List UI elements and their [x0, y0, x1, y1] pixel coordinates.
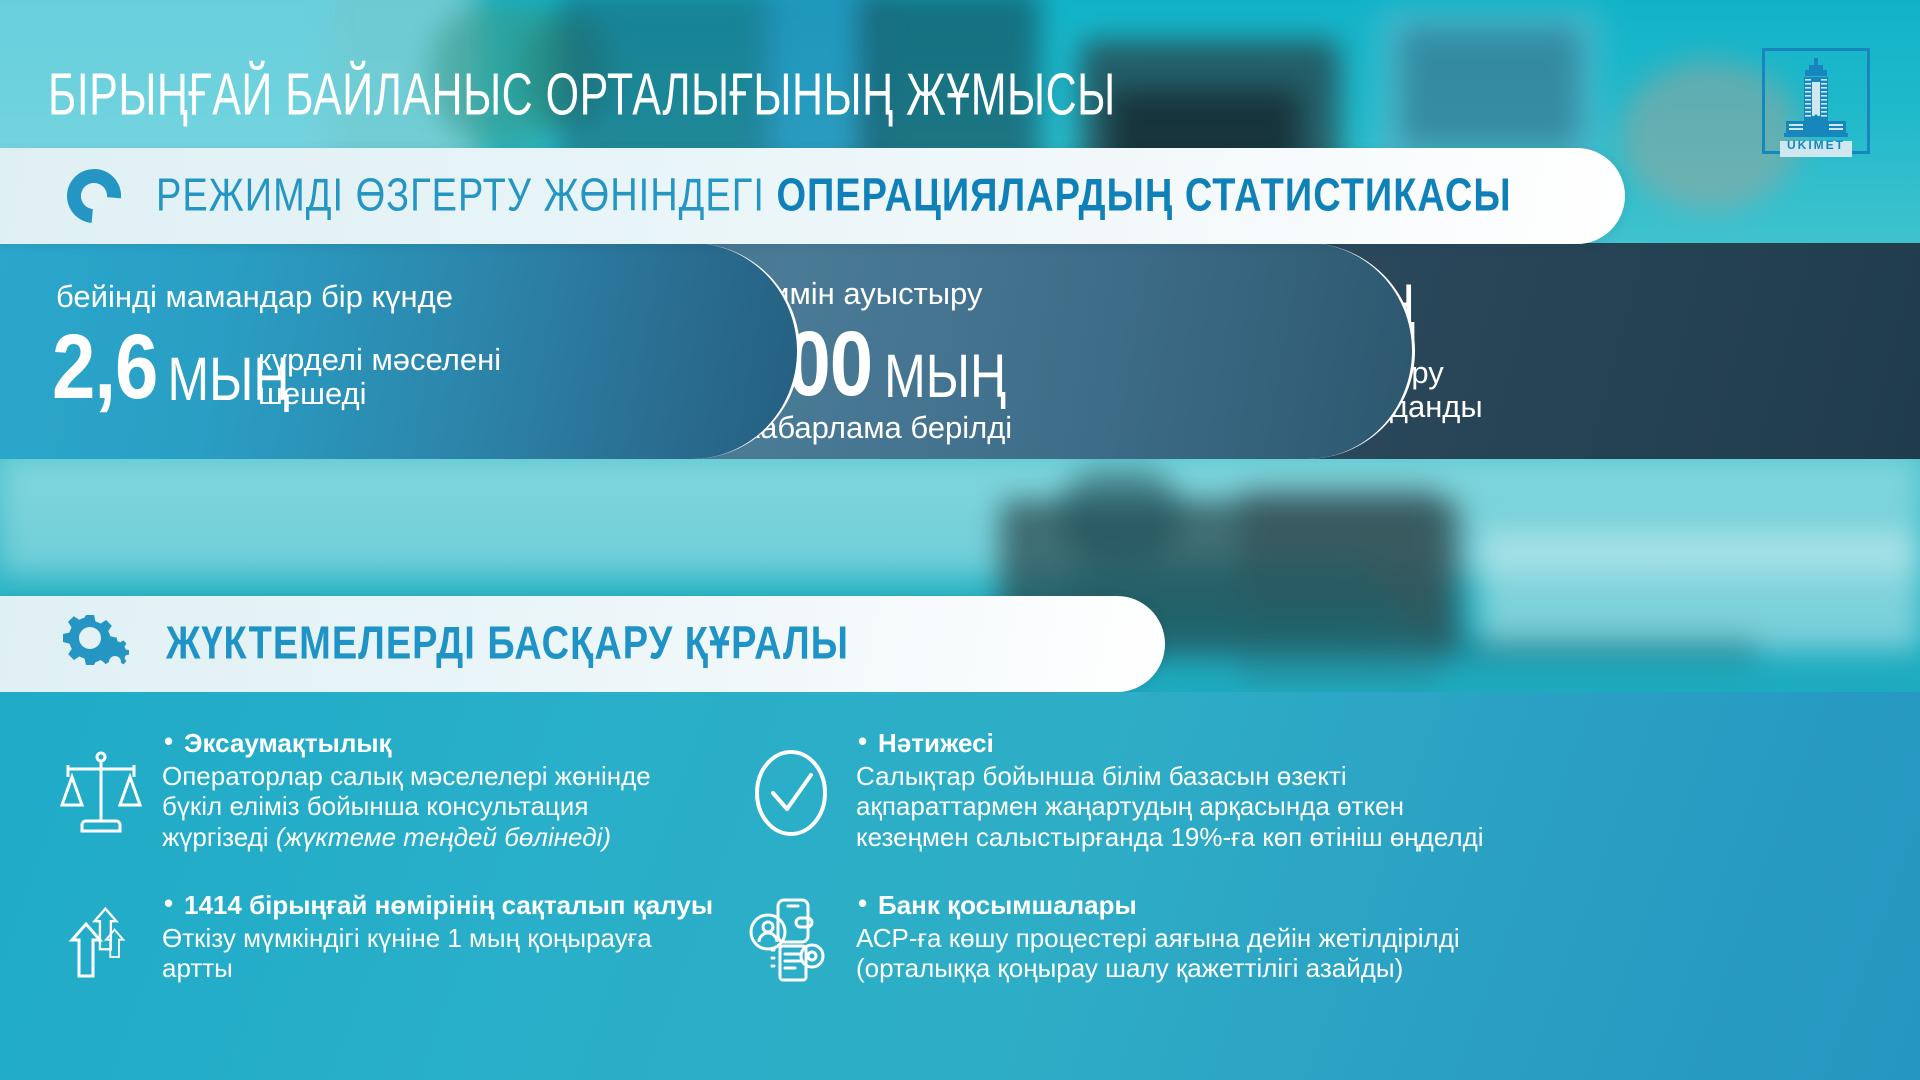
- feature-bank-apps: Банк қосымшалары АСР-ға көшу процестері …: [748, 890, 1858, 988]
- feature-result-body: Нәтижесі Салықтар бойынша білім базасын …: [852, 728, 1858, 852]
- card2-unit: МЫҢ: [884, 346, 1006, 407]
- card-profile-specialists: бейінді мамандар бір күнде 2,6 МЫҢ күрде…: [0, 243, 800, 459]
- gears-icon: [48, 611, 140, 677]
- government-building-icon: [1776, 56, 1856, 140]
- feature-result-desc: Салықтар бойынша білім базасын өзекті ақ…: [856, 761, 1858, 852]
- card2-label-bottom: хабарлама берілді: [745, 411, 1012, 445]
- feature-result: Нәтижесі Салықтар бойынша білім базасын …: [748, 728, 1858, 852]
- card1-label-line1: күрделі мәселені: [258, 343, 501, 377]
- desc-line-2: (орталыққа қоңырау шалу қажеттілігі азай…: [856, 953, 1858, 983]
- card1-label-right: күрделі мәселені шешеді: [258, 343, 501, 411]
- statistics-cards-row: 700 МЫҢ салықтық есеп беру формасы қабыл…: [0, 243, 1920, 459]
- page-title: БІРЫҢҒАЙ БАЙЛАНЫС ОРТАЛЫҒЫНЫҢ ЖҰМЫСЫ: [48, 62, 1116, 130]
- banner-statistics: РЕЖИМДІ ӨЗГЕРТУ ЖӨНІНДЕГІ ОПЕРАЦИЯЛАРДЫҢ…: [0, 148, 1625, 244]
- desc-line-3-plain: жүргізеді: [162, 822, 276, 852]
- desc-line-3: жүргізеді (жүктеме теңдей бөлінеді): [162, 822, 838, 852]
- feature-bank-apps-body: Банк қосымшалары АСР-ға көшу процестері …: [852, 890, 1858, 988]
- desc-line-2: бүкіл еліміз бойынша консультация: [162, 791, 838, 821]
- desc-line-1: АСР-ға көшу процестері аяғына дейін жеті…: [856, 923, 1858, 953]
- banner-load-management-text: ЖҮКТЕМЕЛЕРДІ БАСҚАРУ ҚҰРАЛЫ: [166, 618, 849, 670]
- feature-exterritoriality: Эксаумақтылық Операторлар салық мәселеле…: [58, 728, 838, 852]
- feature-exterritoriality-desc: Операторлар салық мәселелері жөнінде бүк…: [162, 761, 838, 852]
- card1-label-line2: шешеді: [258, 377, 501, 411]
- card1-label-top: бейінді мамандар бір күнде: [56, 280, 453, 314]
- feature-bank-apps-desc: АСР-ға көшу процестері аяғына дейін жеті…: [856, 923, 1858, 984]
- balance-scales-icon: [58, 728, 144, 852]
- pie-chart-icon: [48, 165, 140, 227]
- banner-load-management: ЖҮКТЕМЕЛЕРДІ БАСҚАРУ ҚҰРАЛЫ: [0, 596, 1165, 692]
- ukimet-logo: UKIMET: [1762, 48, 1870, 154]
- check-circle-icon: [748, 728, 834, 852]
- desc-line-3-italic: (жүктеме теңдей бөлінеді): [276, 822, 611, 852]
- banner-statistics-text: РЕЖИМДІ ӨЗГЕРТУ ЖӨНІНДЕГІ ОПЕРАЦИЯЛАРДЫҢ…: [156, 170, 1512, 222]
- desc-line-1: Салықтар бойынша білім базасын өзекті: [856, 761, 1858, 791]
- mobile-document-gear-icon: [748, 890, 834, 988]
- feature-bank-apps-title: Банк қосымшалары: [856, 890, 1858, 921]
- desc-line-1: Операторлар салық мәселелері жөнінде: [162, 761, 838, 791]
- banner1-normal: РЕЖИМДІ ӨЗГЕРТУ ЖӨНІНДЕГІ: [156, 170, 776, 221]
- up-arrows-icon: [58, 890, 144, 984]
- logo-text: UKIMET: [1762, 138, 1870, 152]
- feature-exterritoriality-title: Эксаумақтылық: [162, 728, 838, 759]
- infographic-root: БІРЫҢҒАЙ БАЙЛАНЫС ОРТАЛЫҒЫНЫҢ ЖҰМЫСЫ: [0, 0, 1920, 1080]
- feature-unified-number-1414: 1414 бірыңғай нөмірінің сақталып қалуы Ө…: [58, 890, 858, 984]
- banner1-bold: ОПЕРАЦИЯЛАРДЫҢ СТАТИСТИКАСЫ: [776, 170, 1511, 221]
- card1-value: 2,6: [52, 323, 157, 410]
- card1-value-group: 2,6 МЫҢ: [52, 336, 289, 410]
- feature-exterritoriality-body: Эксаумақтылық Операторлар салық мәселеле…: [162, 728, 838, 852]
- desc-line-3: кезеңмен салыстырғанда 19%-ға көп өтініш…: [856, 822, 1858, 852]
- feature-result-title: Нәтижесі: [856, 728, 1858, 759]
- desc-line-2: ақпараттармен жаңартудың арқасында өткен: [856, 791, 1858, 821]
